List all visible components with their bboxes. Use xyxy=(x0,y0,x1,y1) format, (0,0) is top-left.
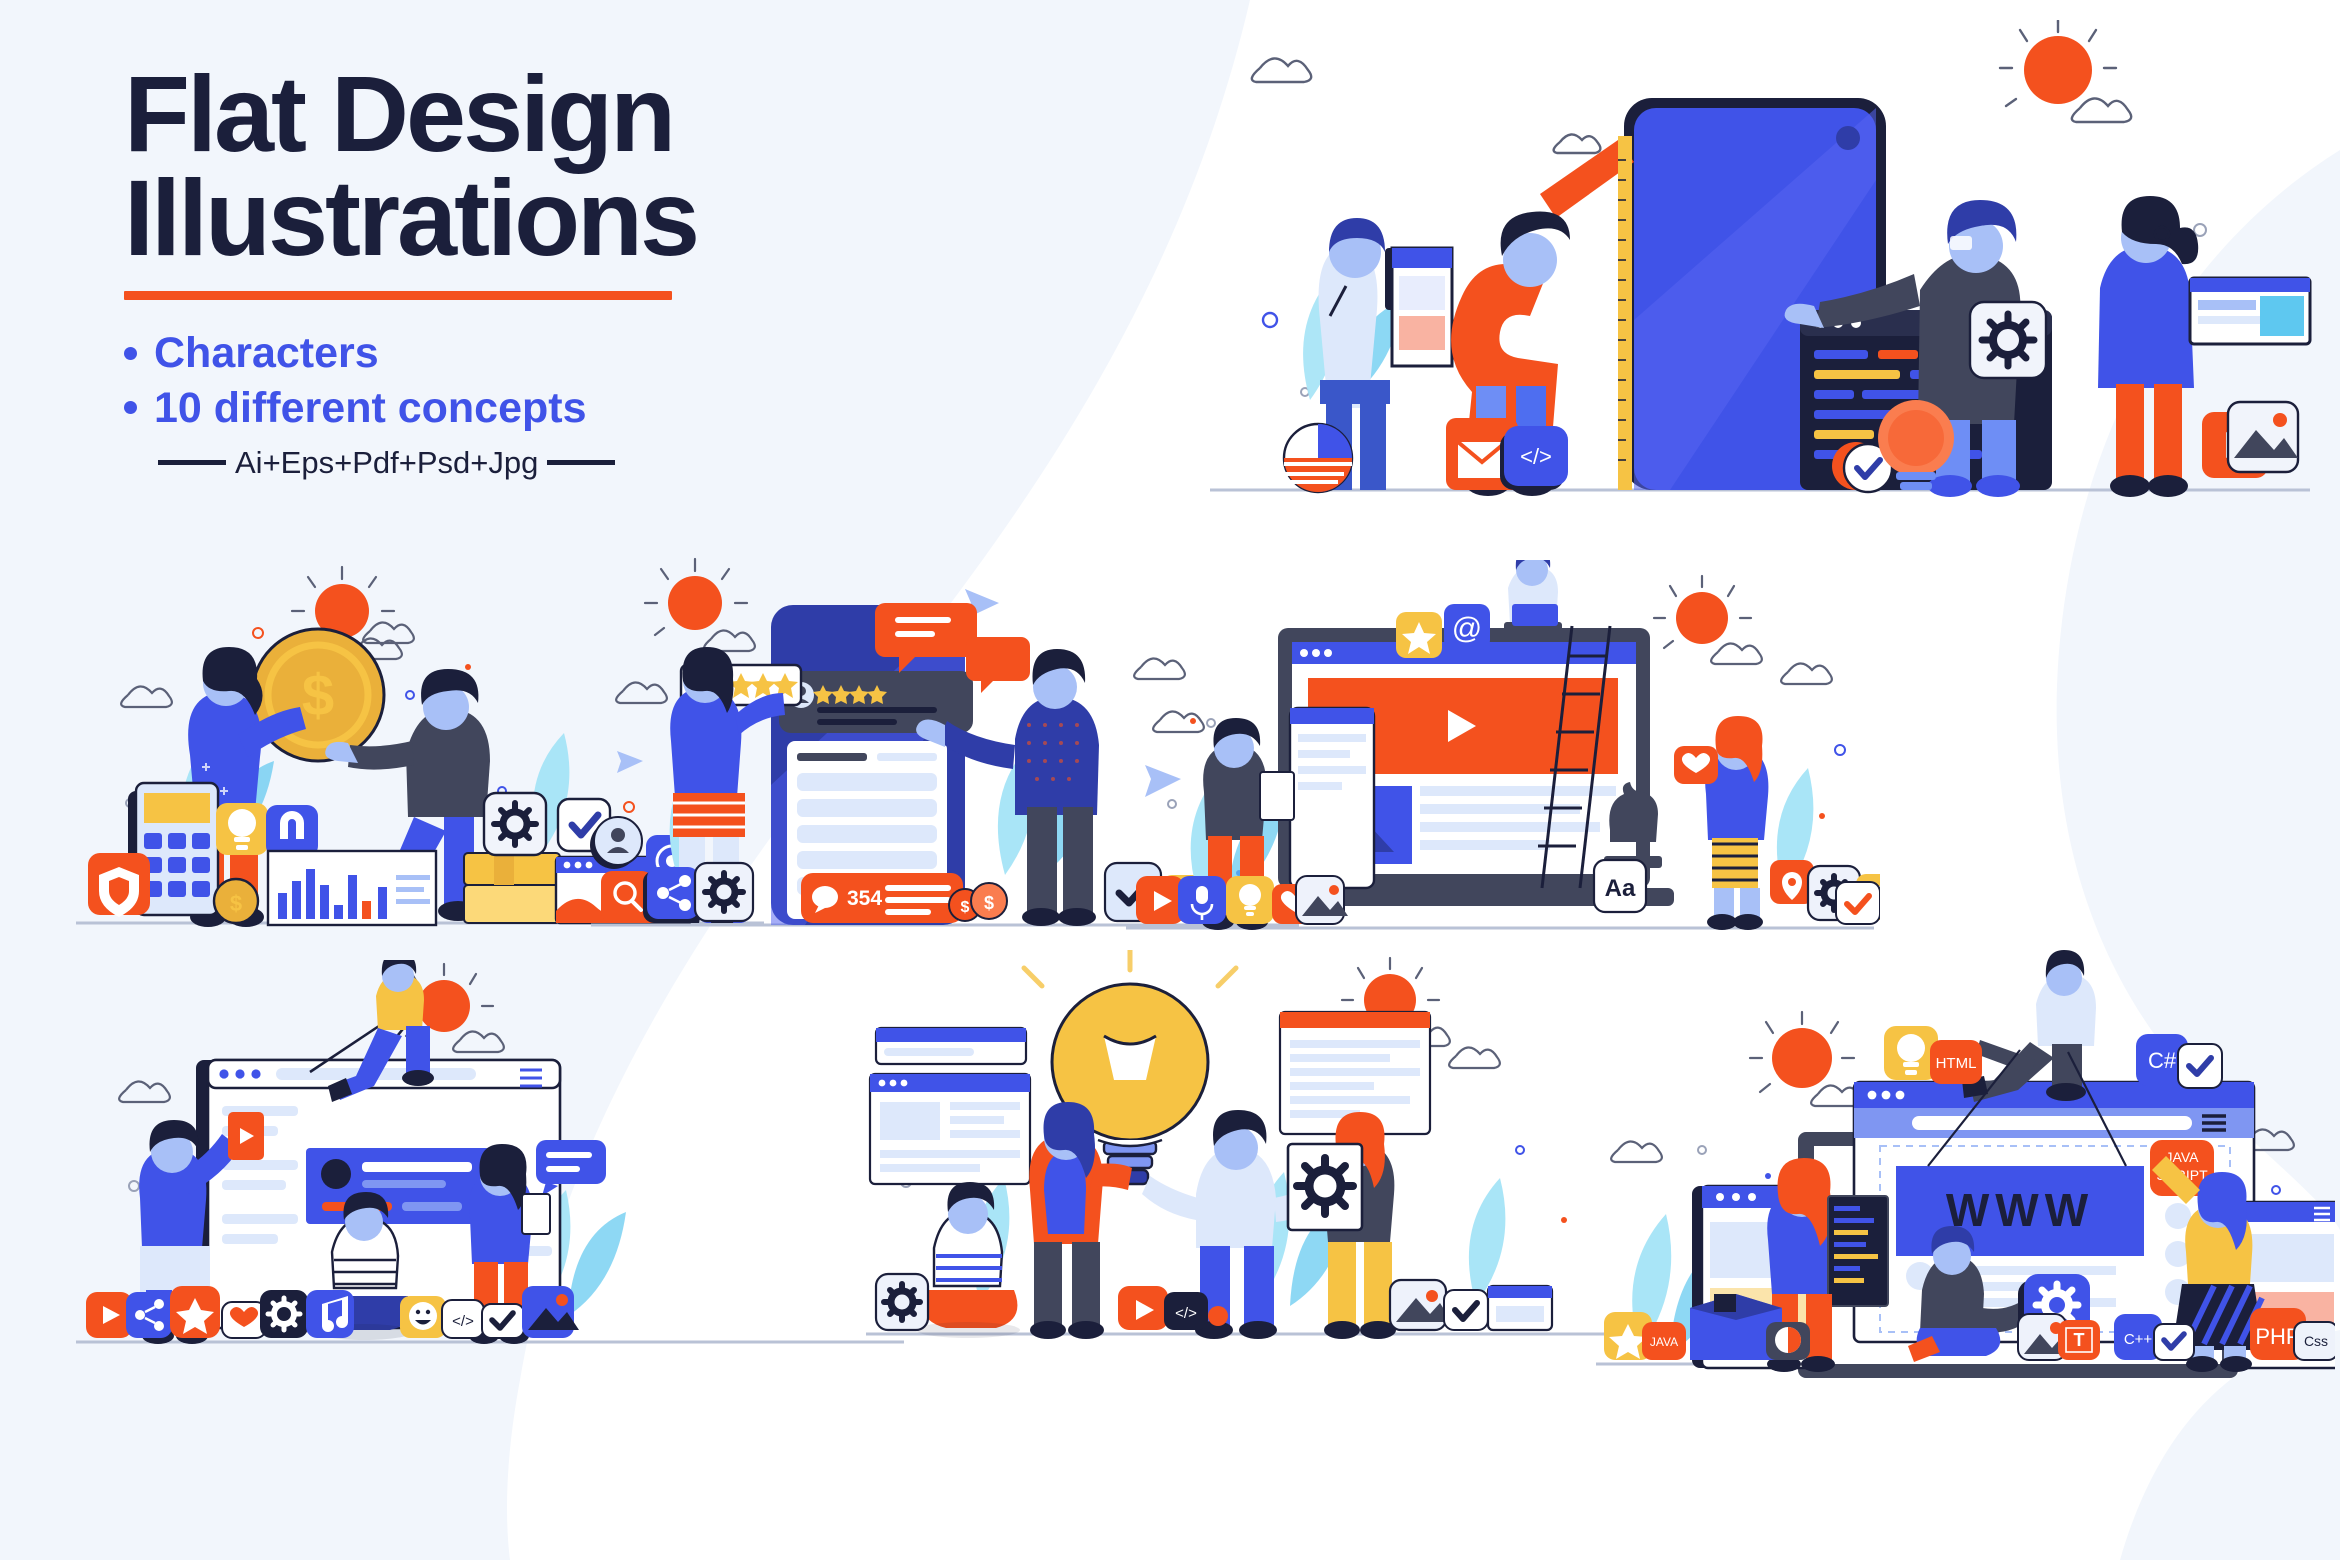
at-icon: @ xyxy=(1444,604,1490,650)
deco-dot xyxy=(465,664,471,670)
illustration-web-design: </> xyxy=(70,960,910,1400)
deco-ring xyxy=(129,1181,139,1191)
comment-count-badge: 354 xyxy=(847,887,882,910)
feature-label: Characters xyxy=(154,326,379,380)
page-title-line1: Flat Design xyxy=(124,62,944,166)
browser-icon xyxy=(1488,1286,1552,1330)
play-video-icon xyxy=(86,1292,132,1338)
image-icon xyxy=(522,1286,579,1338)
check-icon xyxy=(1444,1290,1488,1330)
check-icon xyxy=(2154,1324,2194,1360)
typography-icon: Aa xyxy=(1594,860,1646,912)
sun-icon xyxy=(1654,576,1762,664)
title-underline xyxy=(124,291,672,300)
image-icon xyxy=(1296,876,1348,924)
illustration-creative-idea: </> xyxy=(860,950,1640,1390)
deco-dot xyxy=(1819,813,1825,819)
css-badge-icon: Css xyxy=(2294,1322,2335,1360)
mic-icon xyxy=(1178,876,1226,924)
shield-icon xyxy=(88,853,150,917)
svg-text:$: $ xyxy=(961,899,970,916)
pie-chart-icon xyxy=(1766,1322,1810,1360)
cloud-icon xyxy=(1252,58,1601,153)
svg-text:$: $ xyxy=(302,663,334,728)
review-card xyxy=(779,671,973,733)
bulb-icon xyxy=(216,803,268,855)
svg-text:</>: </> xyxy=(1520,444,1552,469)
rule-left xyxy=(158,460,226,465)
tablet-mockup xyxy=(1290,708,1374,888)
character-woman-right xyxy=(1705,716,1768,930)
svg-text:T: T xyxy=(2074,1330,2085,1350)
gear-icon xyxy=(695,863,753,921)
deco-ring xyxy=(406,691,414,699)
emoji-icon xyxy=(400,1296,446,1338)
deco-ring xyxy=(1835,745,1845,755)
illustration-content-management: @ xyxy=(1120,560,1880,980)
heart-icon xyxy=(222,1302,266,1338)
dot-icon xyxy=(1208,1306,1228,1326)
star-icon xyxy=(170,1286,220,1338)
illustration-web-development: WWW xyxy=(1590,940,2335,1400)
magnet-icon xyxy=(266,805,318,857)
share-icon xyxy=(643,867,699,923)
illustration-mobile-app-development: </> xyxy=(1200,20,2320,545)
comment-count-banner: 354 xyxy=(801,873,963,923)
svg-text:</>: </> xyxy=(452,1313,474,1330)
feature-list: Characters 10 different concepts Ai+Eps+… xyxy=(124,326,944,480)
heart-icon xyxy=(1674,746,1718,784)
feature-label: 10 different concepts xyxy=(154,381,587,435)
pie-chart-icon xyxy=(1284,424,1352,492)
poster-header: Flat Design Illustrations Characters 10 … xyxy=(124,62,944,481)
html-badge-icon: HTML xyxy=(1930,1040,1982,1084)
character-on-top xyxy=(1504,560,1562,638)
deco-ring xyxy=(624,802,634,812)
browser-window-front xyxy=(870,1074,1030,1184)
check-icon xyxy=(2178,1044,2222,1088)
gear-icon xyxy=(484,793,546,855)
bullet-dot-icon xyxy=(124,401,137,414)
code-tag-icon: </> xyxy=(1500,426,1568,490)
typography-icon: T xyxy=(2058,1320,2100,1360)
deco-ring xyxy=(253,628,263,638)
coin-dollar-icon: $ xyxy=(214,879,258,923)
deco-ring xyxy=(1168,800,1176,808)
www-label: WWW xyxy=(1946,1184,2094,1236)
java-badge-icon: JAVA xyxy=(1642,1322,1686,1360)
star-icon xyxy=(1396,612,1442,658)
deco-ring xyxy=(2194,224,2206,236)
rule-right xyxy=(547,460,615,465)
play-video-icon xyxy=(1118,1286,1168,1330)
svg-text:$: $ xyxy=(984,893,994,913)
deco-dot xyxy=(1561,1217,1567,1223)
svg-text:@: @ xyxy=(1452,612,1482,645)
svg-text:$: $ xyxy=(230,891,242,916)
poster-canvas: Flat Design Illustrations Characters 10 … xyxy=(0,0,2340,1560)
cpp-badge: C++ xyxy=(2124,1331,2153,1348)
gear-icon xyxy=(1970,302,2046,378)
deco-ring xyxy=(1516,1146,1524,1154)
browser-window-back xyxy=(876,1028,1026,1064)
deco-dot xyxy=(1765,1173,1771,1179)
html-badge: HTML xyxy=(1936,1055,1977,1072)
character-woman-gear-board xyxy=(1288,1112,1396,1339)
code-tag-icon: </> xyxy=(1164,1292,1208,1330)
bulb-icon xyxy=(1226,876,1274,924)
image-icon xyxy=(2228,402,2298,472)
speech-bubble-small xyxy=(966,637,1030,693)
csharp-badge: C# xyxy=(2148,1048,2177,1073)
gear-icon xyxy=(260,1290,308,1338)
css-badge: Css xyxy=(2304,1333,2328,1349)
page-title-line2: Illustrations xyxy=(124,166,944,270)
sun-icon xyxy=(645,559,755,651)
deco-ring xyxy=(1263,313,1277,327)
check-icon xyxy=(482,1304,524,1338)
sun-icon xyxy=(2000,20,2131,122)
list-item: 10 different concepts xyxy=(124,381,944,435)
sun-icon xyxy=(1750,1012,1862,1106)
file-formats-label: Ai+Eps+Pdf+Psd+Jpg xyxy=(226,445,547,481)
gear-icon xyxy=(876,1274,928,1330)
image-icon xyxy=(1390,1280,1452,1330)
chat-bubble xyxy=(536,1140,606,1196)
bulb-icon xyxy=(1884,1026,1938,1080)
list-item: Characters xyxy=(124,326,944,380)
svg-text:</>: </> xyxy=(1175,1305,1197,1322)
play-video-icon xyxy=(1136,876,1184,924)
check-icon xyxy=(1836,882,1880,924)
bullet-dot-icon xyxy=(124,347,137,360)
file-formats: Ai+Eps+Pdf+Psd+Jpg xyxy=(158,445,944,481)
bar-chart-icon xyxy=(268,851,436,925)
typography-icon-label: Aa xyxy=(1605,875,1636,902)
code-tag-icon: </> xyxy=(442,1300,484,1338)
deco-ring xyxy=(2272,1186,2280,1194)
share-icon xyxy=(126,1292,172,1338)
java-badge: JAVA xyxy=(1650,1335,1678,1349)
box-stack xyxy=(464,853,560,923)
deco-ring xyxy=(1698,1146,1706,1154)
music-icon xyxy=(306,1290,354,1338)
